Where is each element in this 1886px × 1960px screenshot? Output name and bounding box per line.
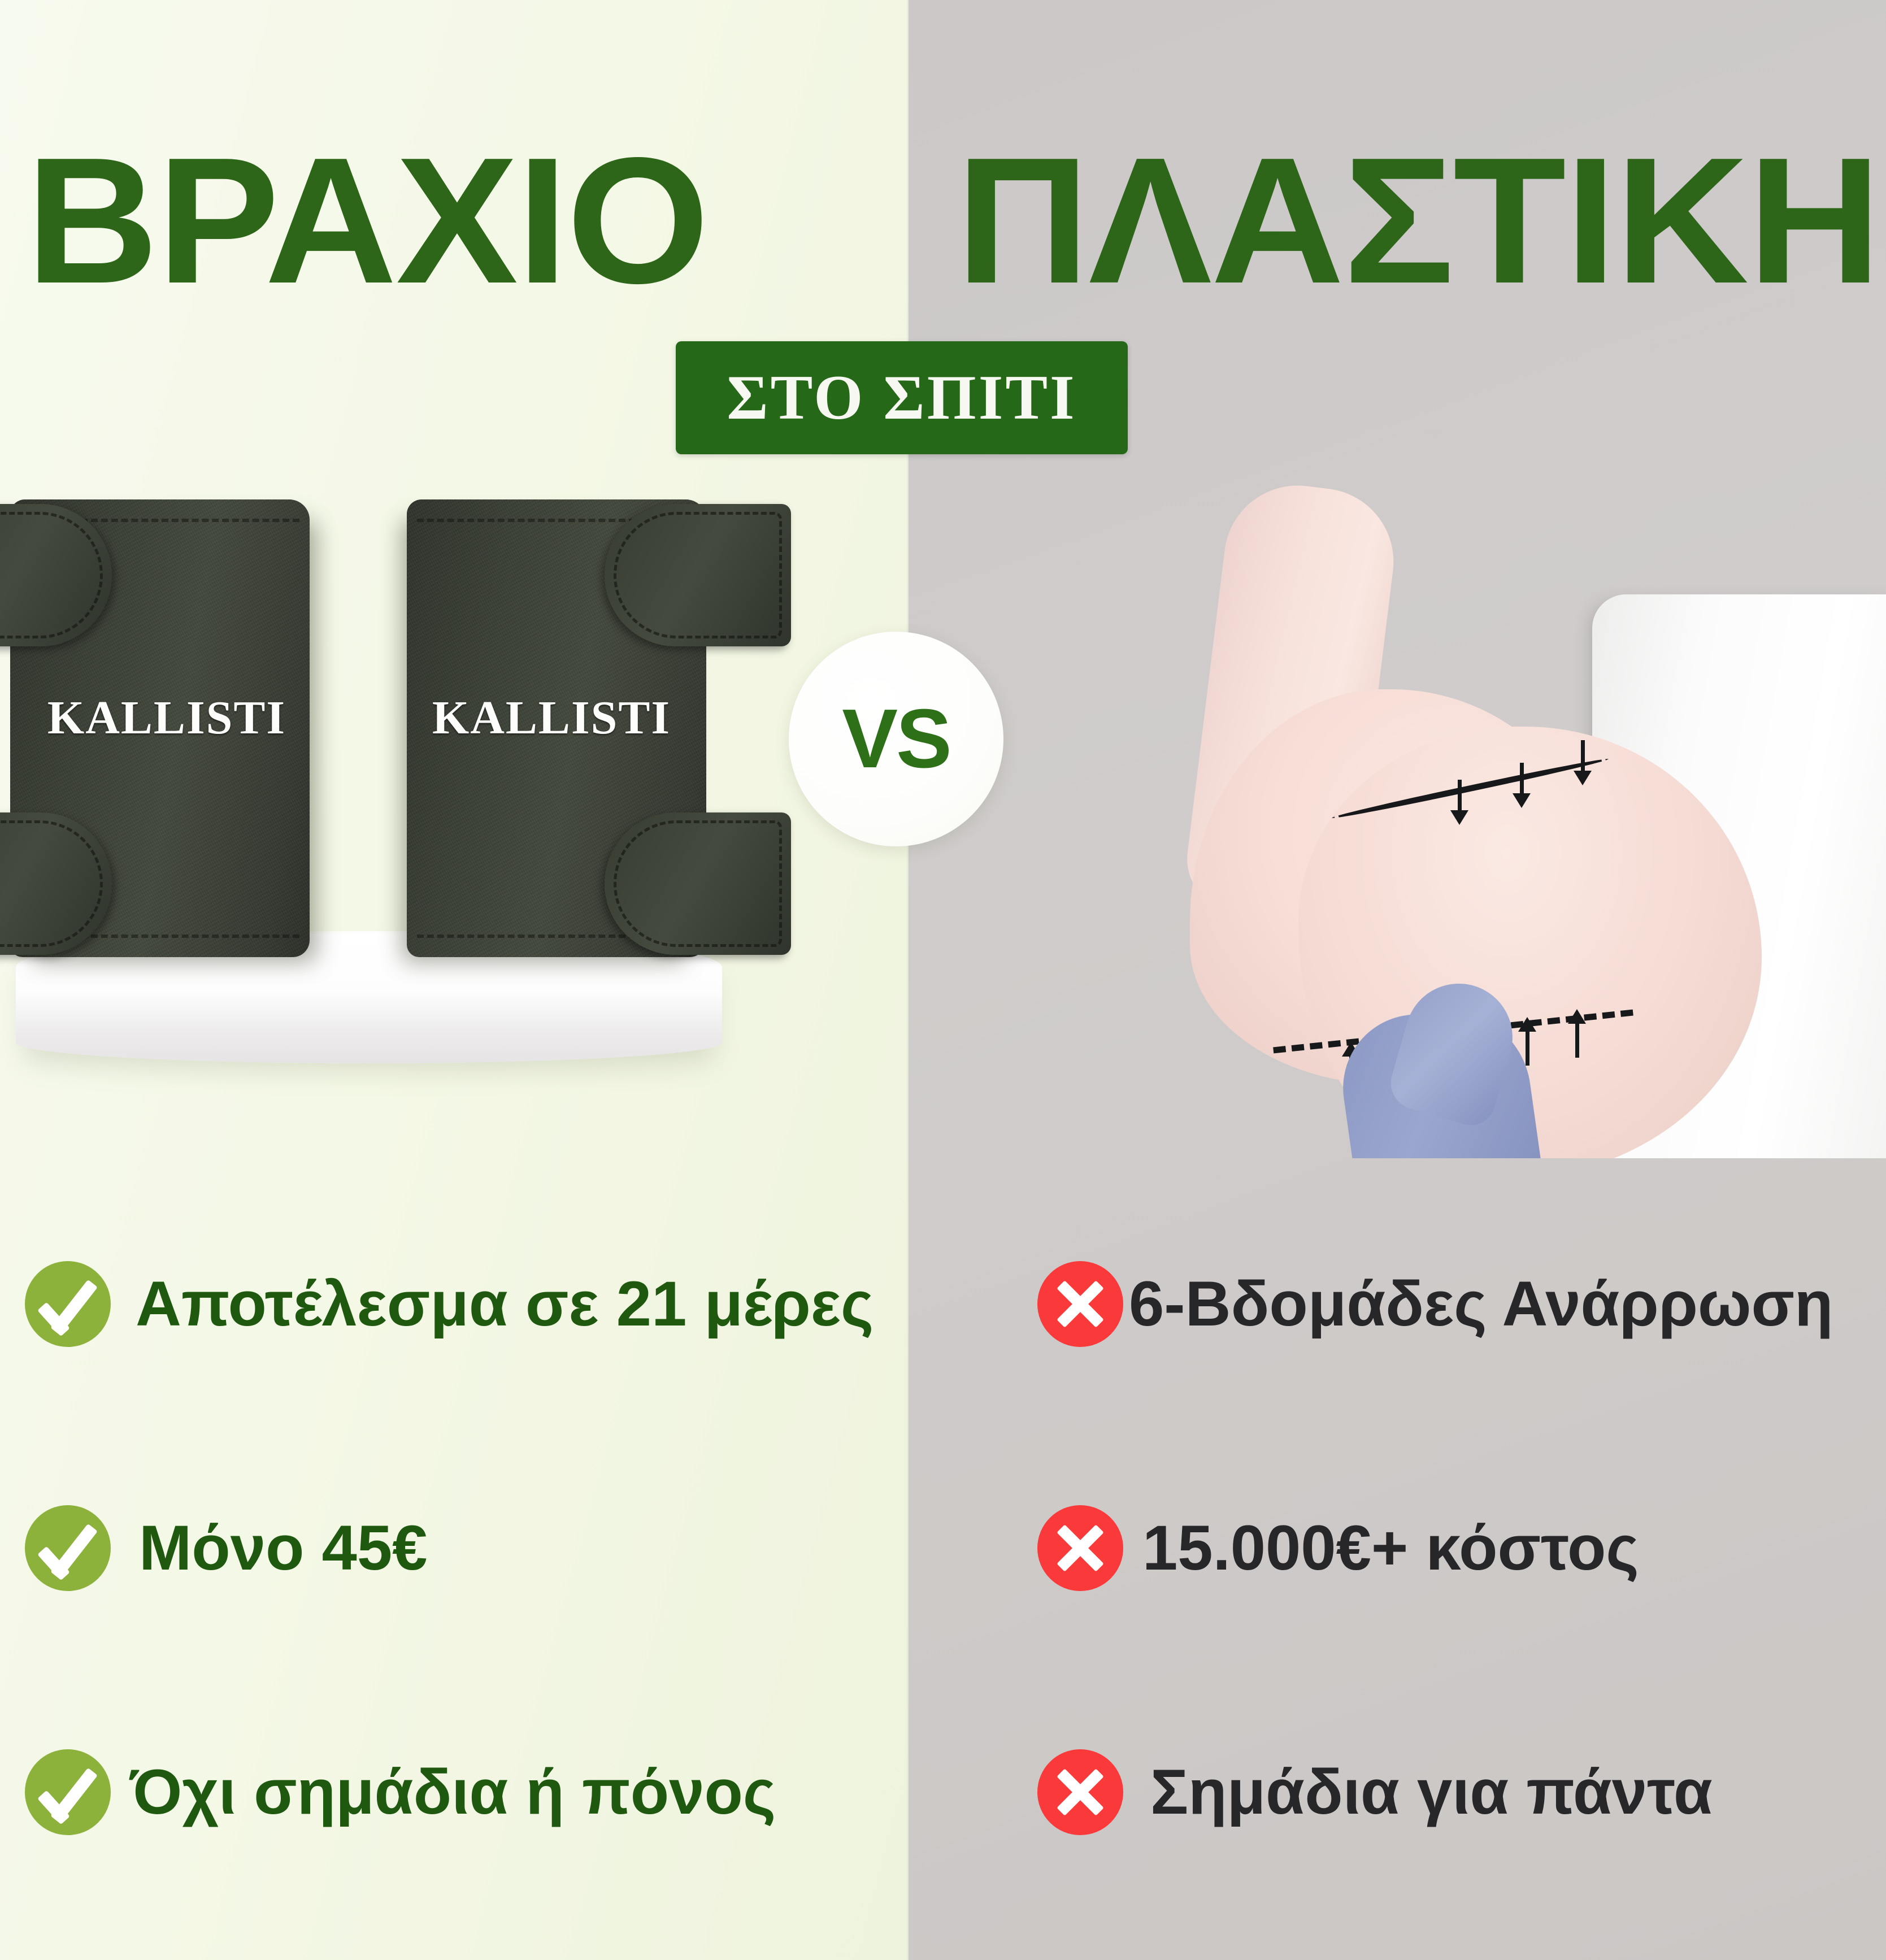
surgery-photo xyxy=(1074,475,1886,1158)
versus-label: VS xyxy=(842,691,950,787)
cons-item-label: 6-Βδομάδες Ανάρρωση xyxy=(1129,1270,1833,1338)
cons-item-label: Σημάδια για πάντα xyxy=(1150,1758,1713,1826)
versus-badge: VS xyxy=(789,632,1003,846)
velcro-strap-bottom xyxy=(605,812,791,955)
product-brand-label: KALLISTI xyxy=(10,690,310,745)
cross-circle-icon xyxy=(1037,1261,1123,1347)
list-item: Αποτέλεσμα σε 21 μέρες xyxy=(25,1241,895,1367)
list-item: Μόνο 45€ xyxy=(25,1485,895,1611)
cross-circle-icon xyxy=(1037,1749,1123,1835)
cross-circle-icon xyxy=(1037,1505,1123,1591)
check-circle-icon xyxy=(25,1749,111,1835)
velcro-strap-bottom xyxy=(0,812,112,955)
pros-item-label: Μόνο 45€ xyxy=(139,1514,427,1582)
velcro-strap-top xyxy=(605,504,791,646)
check-circle-icon xyxy=(25,1505,111,1591)
at-home-badge: ΣΤΟ ΣΠΙΤΙ xyxy=(676,341,1128,454)
product-brand-label: KALLISTI xyxy=(407,690,706,745)
at-home-badge-label: ΣΤΟ ΣΠΙΤΙ xyxy=(727,362,1076,434)
product-photo: KALLISTI KALLISTI xyxy=(0,497,751,1068)
arm-sleeve-left: KALLISTI xyxy=(10,499,310,957)
check-circle-icon xyxy=(25,1261,111,1347)
cons-list: 6-Βδομάδες Ανάρρωση 15.000€+ κόστος Σημά… xyxy=(1037,1241,1885,1855)
cons-item-label: 15.000€+ κόστος xyxy=(1142,1514,1639,1582)
advertisement-comparison-graphic: ΒΡΑΧΙΟ ΠΛΑΣΤΙΚΗ ΣΤΟ ΣΠΙΤΙ KALLISTI KALLI… xyxy=(0,0,1886,1960)
pros-list: Αποτέλεσμα σε 21 μέρες Μόνο 45€ Όχι σημά… xyxy=(25,1241,895,1855)
pros-item-label: Όχι σημάδια ή πόνος xyxy=(130,1758,776,1826)
list-item: Όχι σημάδια ή πόνος xyxy=(25,1729,895,1855)
pros-item-label: Αποτέλεσμα σε 21 μέρες xyxy=(136,1270,874,1338)
arm-sleeve-right: KALLISTI xyxy=(407,499,706,957)
list-item: 15.000€+ κόστος xyxy=(1037,1485,1885,1611)
list-item: 6-Βδομάδες Ανάρρωση xyxy=(1037,1241,1885,1367)
list-item: Σημάδια για πάντα xyxy=(1037,1729,1885,1855)
velcro-strap-top xyxy=(0,504,112,646)
panel-divider xyxy=(906,0,912,1960)
